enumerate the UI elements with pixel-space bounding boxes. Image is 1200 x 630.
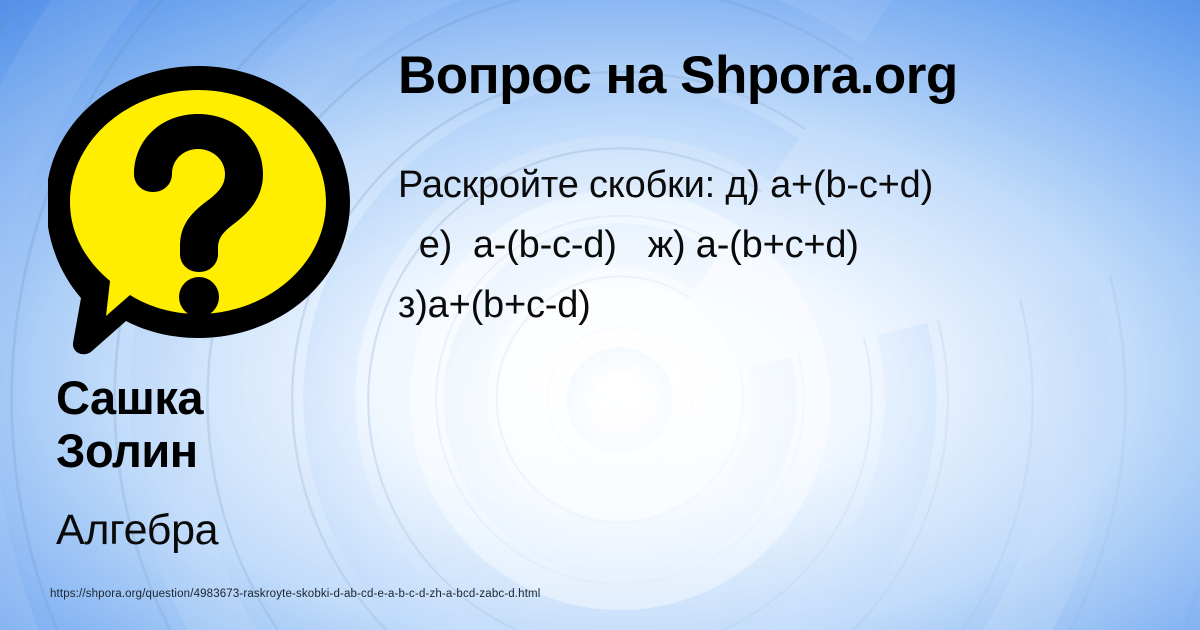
question-text: Раскройте скобки: д) a+(b-c+d) е) a-(b-c… <box>398 155 1188 335</box>
question-line-2: е) a-(b-c-d) ж) a-(b+c+d) <box>398 215 1188 275</box>
page-title: Вопрос на Shpora.org <box>398 48 958 104</box>
subject-label: Алгебра <box>56 506 218 555</box>
source-url[interactable]: https://shpora.org/question/4983673-rask… <box>50 588 540 600</box>
question-line-3: з)a+(b+c-d) <box>398 275 1188 335</box>
author-name: Сашка Золин <box>56 372 386 477</box>
question-share-card: Вопрос на Shpora.org Раскройте скобки: д… <box>0 0 1200 630</box>
question-line-1: Раскройте скобки: д) a+(b-c+d) <box>398 155 1188 215</box>
author-first-name: Сашка <box>56 372 386 425</box>
author-last-name: Золин <box>56 425 386 478</box>
question-speech-bubble-icon <box>48 62 358 362</box>
